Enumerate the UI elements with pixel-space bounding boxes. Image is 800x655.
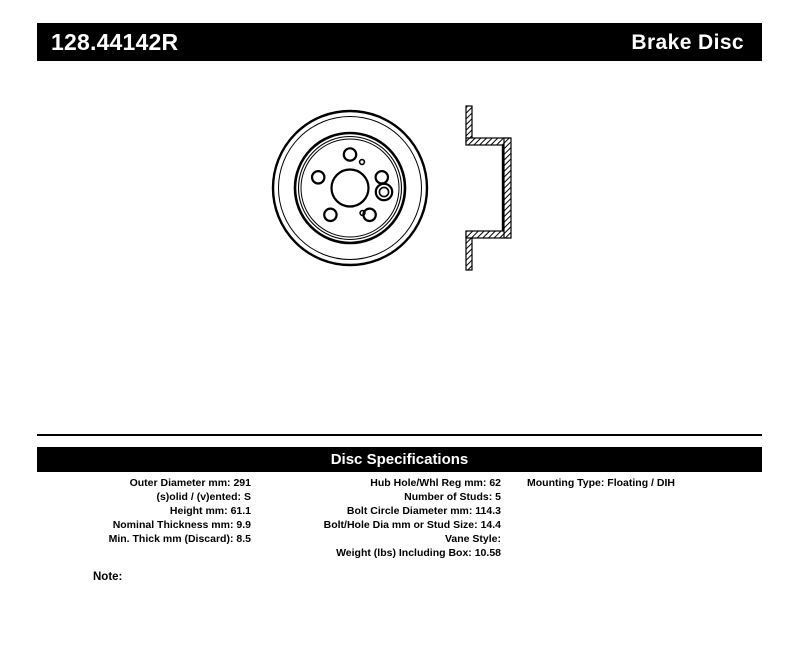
spec-column-dimensions: Outer Diameter mm: 291 (s)olid / (v)ente… [37,476,255,546]
spec-row: Outer Diameter mm: 291 [37,476,255,490]
spec-label: Vane Style: [445,533,501,545]
note-field: Note: [93,570,122,584]
spec-label: Number of Studs: [404,491,492,503]
spec-label: Bolt/Hole Dia mm or Stud Size: [324,519,478,531]
spec-label: Mounting Type: [527,477,604,489]
spec-value: 9.9 [236,519,251,531]
spec-label: Height mm: [170,505,228,517]
spec-row: Number of Studs: 5 [255,490,505,504]
disc-specifications-title: Disc Specifications [331,452,469,467]
spec-label: Weight (lbs) Including Box: [336,547,472,559]
part-number: 128.44142R [51,31,178,54]
spec-label: Hub Hole/Whl Reg mm: [370,477,486,489]
spec-value: 61.1 [231,505,251,517]
spec-label: Outer Diameter mm: [130,477,231,489]
spec-row: Mounting Type: Floating / DIH [505,476,762,490]
brake-disc-technical-drawing [270,88,540,288]
brake-rotor-face-view [273,111,427,265]
disc-specifications-bar: Disc Specifications [37,447,762,472]
spec-column-mounting-type: Mounting Type: Floating / DIH [505,476,762,490]
spec-value: 291 [233,477,251,489]
spec-label: (s)olid / (v)ented: [156,491,241,503]
spec-row: (s)olid / (v)ented: S [37,490,255,504]
product-type-label: Brake Disc [631,32,744,53]
spec-value: 10.58 [475,547,501,559]
note-label: Note: [93,571,122,583]
spec-label: Bolt Circle Diameter mm: [347,505,472,517]
brake-rotor-cross-section-view [466,106,511,270]
spec-row: Nominal Thickness mm: 9.9 [37,518,255,532]
spec-row: Height mm: 61.1 [37,504,255,518]
spec-row: Bolt/Hole Dia mm or Stud Size: 14.4 [255,518,505,532]
section-divider [37,434,762,436]
spec-row: Min. Thick mm (Discard): 8.5 [37,532,255,546]
spec-value: 8.5 [236,533,251,545]
spec-label: Min. Thick mm (Discard): [109,533,234,545]
header-bar: 128.44142R Brake Disc [37,23,762,61]
specifications-table: Outer Diameter mm: 291 (s)olid / (v)ente… [37,476,762,560]
spec-column-mounting: Hub Hole/Whl Reg mm: 62 Number of Studs:… [255,476,505,560]
spec-value: 5 [495,491,501,503]
spec-value: 14.4 [481,519,501,531]
spec-value: 114.3 [475,505,501,517]
spec-row: Weight (lbs) Including Box: 10.58 [255,546,505,560]
spec-label: Nominal Thickness mm: [113,519,234,531]
product-drawing [270,88,540,288]
spec-value: Floating / DIH [607,477,675,489]
spec-row: Bolt Circle Diameter mm: 114.3 [255,504,505,518]
spec-row: Vane Style: [255,532,505,546]
spec-value: S [244,491,251,503]
spec-row: Hub Hole/Whl Reg mm: 62 [255,476,505,490]
spec-value: 62 [489,477,501,489]
